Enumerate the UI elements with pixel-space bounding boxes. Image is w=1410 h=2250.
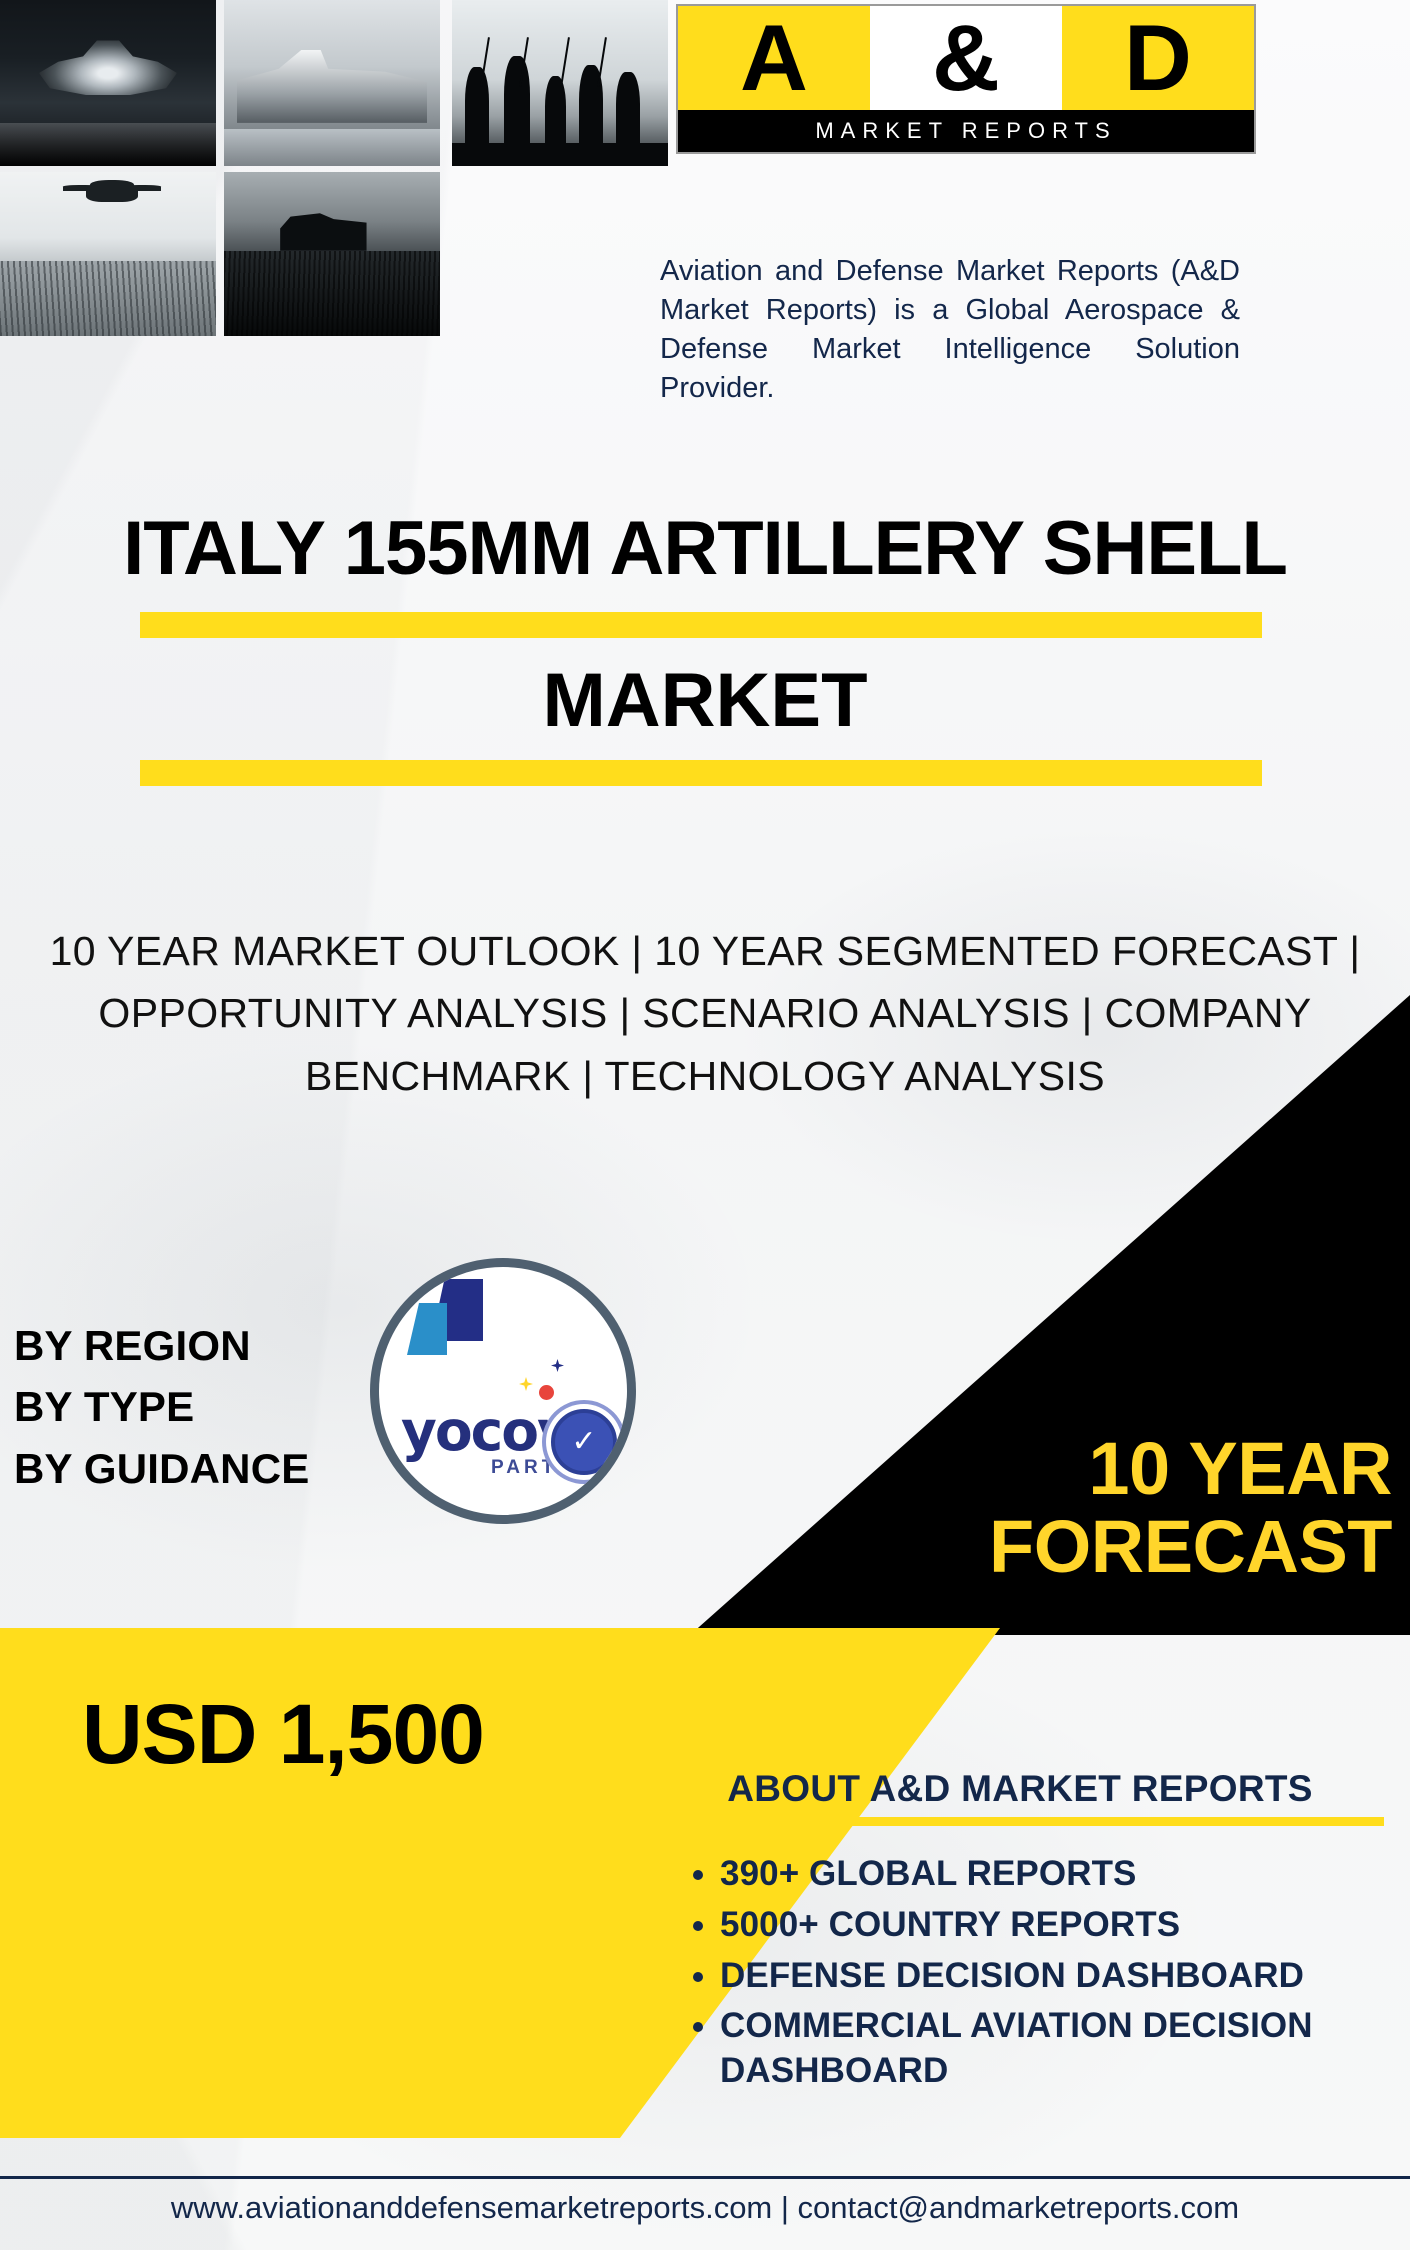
price-value: USD 1,500 [82, 1686, 484, 1783]
navy-sparkle-icon [551, 1359, 564, 1372]
yellow-sparkle-icon [519, 1377, 533, 1391]
logo-cell-a: A [678, 6, 870, 110]
about-heading: ABOUT A&D MARKET REPORTS [650, 1768, 1390, 1810]
yocova-chevron-light-icon [407, 1303, 447, 1355]
logo-letter-row: A & D [678, 6, 1254, 110]
verified-seal-icon: ✓ [551, 1409, 617, 1475]
forecast-line-1: 10 YEAR [832, 1430, 1392, 1508]
segmentation-list: BY REGION BY TYPE BY GUIDANCE [14, 1315, 309, 1499]
header-photo-grid [0, 0, 672, 336]
about-bullet-country-reports: 5000+ COUNTRY REPORTS [720, 1903, 1410, 1948]
about-bullet-global-reports: 390+ GLOBAL REPORTS [720, 1852, 1410, 1897]
check-icon: ✓ [571, 1427, 596, 1457]
logo-letter-d: D [1124, 11, 1192, 105]
segmentation-item-region: BY REGION [14, 1315, 309, 1376]
about-bullet-list: 390+ GLOBAL REPORTS 5000+ COUNTRY REPORT… [690, 1852, 1410, 2100]
about-bullet-defense-dashboard: DEFENSE DECISION DASHBOARD [720, 1954, 1410, 1999]
page-title-line-2: MARKET [0, 662, 1410, 740]
report-cover-poster: A & D MARKET REPORTS Aviation and Defens… [0, 0, 1410, 2250]
logo-letter-a: A [740, 11, 808, 105]
soldiers-silhouette-photo [452, 0, 668, 166]
red-dot-icon [539, 1385, 554, 1400]
segmentation-item-guidance: BY GUIDANCE [14, 1438, 309, 1499]
page-title-line-1: ITALY 155MM ARTILLERY SHELL [0, 510, 1410, 588]
aircraft-carrier-photo [224, 0, 440, 166]
forecast-callout: 10 YEAR FORECAST [832, 1430, 1392, 1585]
helicopter-photo [0, 172, 216, 336]
armored-vehicle-photo [224, 172, 440, 336]
logo-cell-ampersand: & [870, 6, 1062, 110]
footer-divider [0, 2176, 1410, 2179]
ad-market-reports-logo: A & D MARKET REPORTS [676, 4, 1256, 154]
yocova-partner-badge: yocova PARTNER ✓ [370, 1258, 636, 1524]
company-intro-text: Aviation and Defense Market Reports (A&D… [660, 252, 1240, 407]
fighter-jet-photo [0, 0, 216, 166]
logo-ampersand: & [932, 11, 1000, 105]
logo-cell-d: D [1062, 6, 1254, 110]
about-bullet-commercial-dashboard: COMMERCIAL AVIATION DECISION DASHBOARD [720, 2004, 1410, 2094]
logo-subtitle: MARKET REPORTS [678, 110, 1254, 152]
about-heading-underline [658, 1817, 1384, 1826]
soldier-silhouettes [452, 43, 668, 153]
report-scope-text: 10 YEAR MARKET OUTLOOK | 10 YEAR SEGMENT… [40, 920, 1370, 1107]
segmentation-item-type: BY TYPE [14, 1376, 309, 1437]
footer-contact: www.aviationanddefensemarketreports.com … [0, 2190, 1410, 2226]
title-accent-bar-bottom [140, 760, 1262, 786]
forecast-line-2: FORECAST [832, 1508, 1392, 1586]
title-accent-bar-top [140, 612, 1262, 638]
